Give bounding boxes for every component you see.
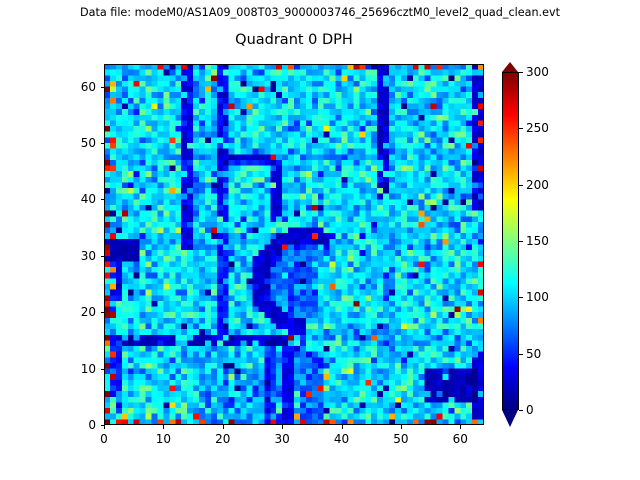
colorbar[interactable]: 050100150200250300 bbox=[502, 72, 519, 410]
colorbar-extend-bottom-arrow bbox=[502, 410, 518, 427]
x-tick-mark bbox=[104, 425, 105, 429]
y-tick-mark bbox=[101, 312, 105, 313]
colorbar-tick-mark bbox=[519, 354, 523, 355]
colorbar-tick-mark bbox=[519, 72, 523, 73]
y-tick-mark bbox=[101, 199, 105, 200]
detector-plane-histogram-image[interactable] bbox=[104, 64, 484, 425]
y-tick-label: 40 bbox=[81, 192, 96, 206]
x-tick-label: 10 bbox=[156, 432, 171, 446]
colorbar-tick-mark bbox=[519, 297, 523, 298]
x-tick-label: 50 bbox=[393, 432, 408, 446]
y-tick-label: 50 bbox=[81, 136, 96, 150]
page-title: Quadrant 0 DPH bbox=[104, 31, 484, 49]
x-tick-mark bbox=[342, 425, 343, 429]
colorbar-tick-mark bbox=[519, 241, 523, 242]
x-tick-label: 60 bbox=[453, 432, 468, 446]
y-tick-mark bbox=[101, 143, 105, 144]
x-tick-label: 30 bbox=[274, 432, 289, 446]
colorbar-tick-label: 50 bbox=[526, 347, 541, 361]
colorbar-tick-mark bbox=[519, 185, 523, 186]
x-tick-mark bbox=[401, 425, 402, 429]
y-tick-label: 0 bbox=[88, 418, 96, 432]
colorbar-tick-mark bbox=[519, 410, 523, 411]
y-tick-label: 10 bbox=[81, 362, 96, 376]
x-tick-mark bbox=[460, 425, 461, 429]
data-file-suptitle: Data file: modeM0/AS1A09_008T03_90000037… bbox=[0, 6, 640, 20]
heatmap-axes[interactable]: 0102030405060 0102030405060 bbox=[104, 64, 484, 425]
y-tick-mark bbox=[101, 87, 105, 88]
colorbar-tick-label: 200 bbox=[526, 178, 549, 192]
figure-canvas: Data file: modeM0/AS1A09_008T03_90000037… bbox=[0, 0, 640, 480]
x-tick-mark bbox=[163, 425, 164, 429]
colorbar-tick-label: 250 bbox=[526, 121, 549, 135]
y-tick-mark bbox=[101, 425, 105, 426]
y-tick-mark bbox=[101, 369, 105, 370]
colorbar-tick-label: 300 bbox=[526, 65, 549, 79]
y-tick-label: 60 bbox=[81, 80, 96, 94]
y-tick-label: 20 bbox=[81, 305, 96, 319]
x-tick-label: 40 bbox=[334, 432, 349, 446]
x-tick-label: 20 bbox=[215, 432, 230, 446]
x-tick-label: 0 bbox=[100, 432, 108, 446]
colorbar-tick-label: 100 bbox=[526, 290, 549, 304]
colorbar-extend-top-arrow bbox=[502, 62, 518, 72]
x-tick-mark bbox=[223, 425, 224, 429]
y-tick-label: 30 bbox=[81, 249, 96, 263]
colorbar-tick-label: 0 bbox=[526, 403, 534, 417]
colorbar-tick-mark bbox=[519, 128, 523, 129]
colorbar-tick-label: 150 bbox=[526, 234, 549, 248]
y-tick-mark bbox=[101, 256, 105, 257]
colorbar-gradient bbox=[502, 72, 519, 410]
x-tick-mark bbox=[282, 425, 283, 429]
